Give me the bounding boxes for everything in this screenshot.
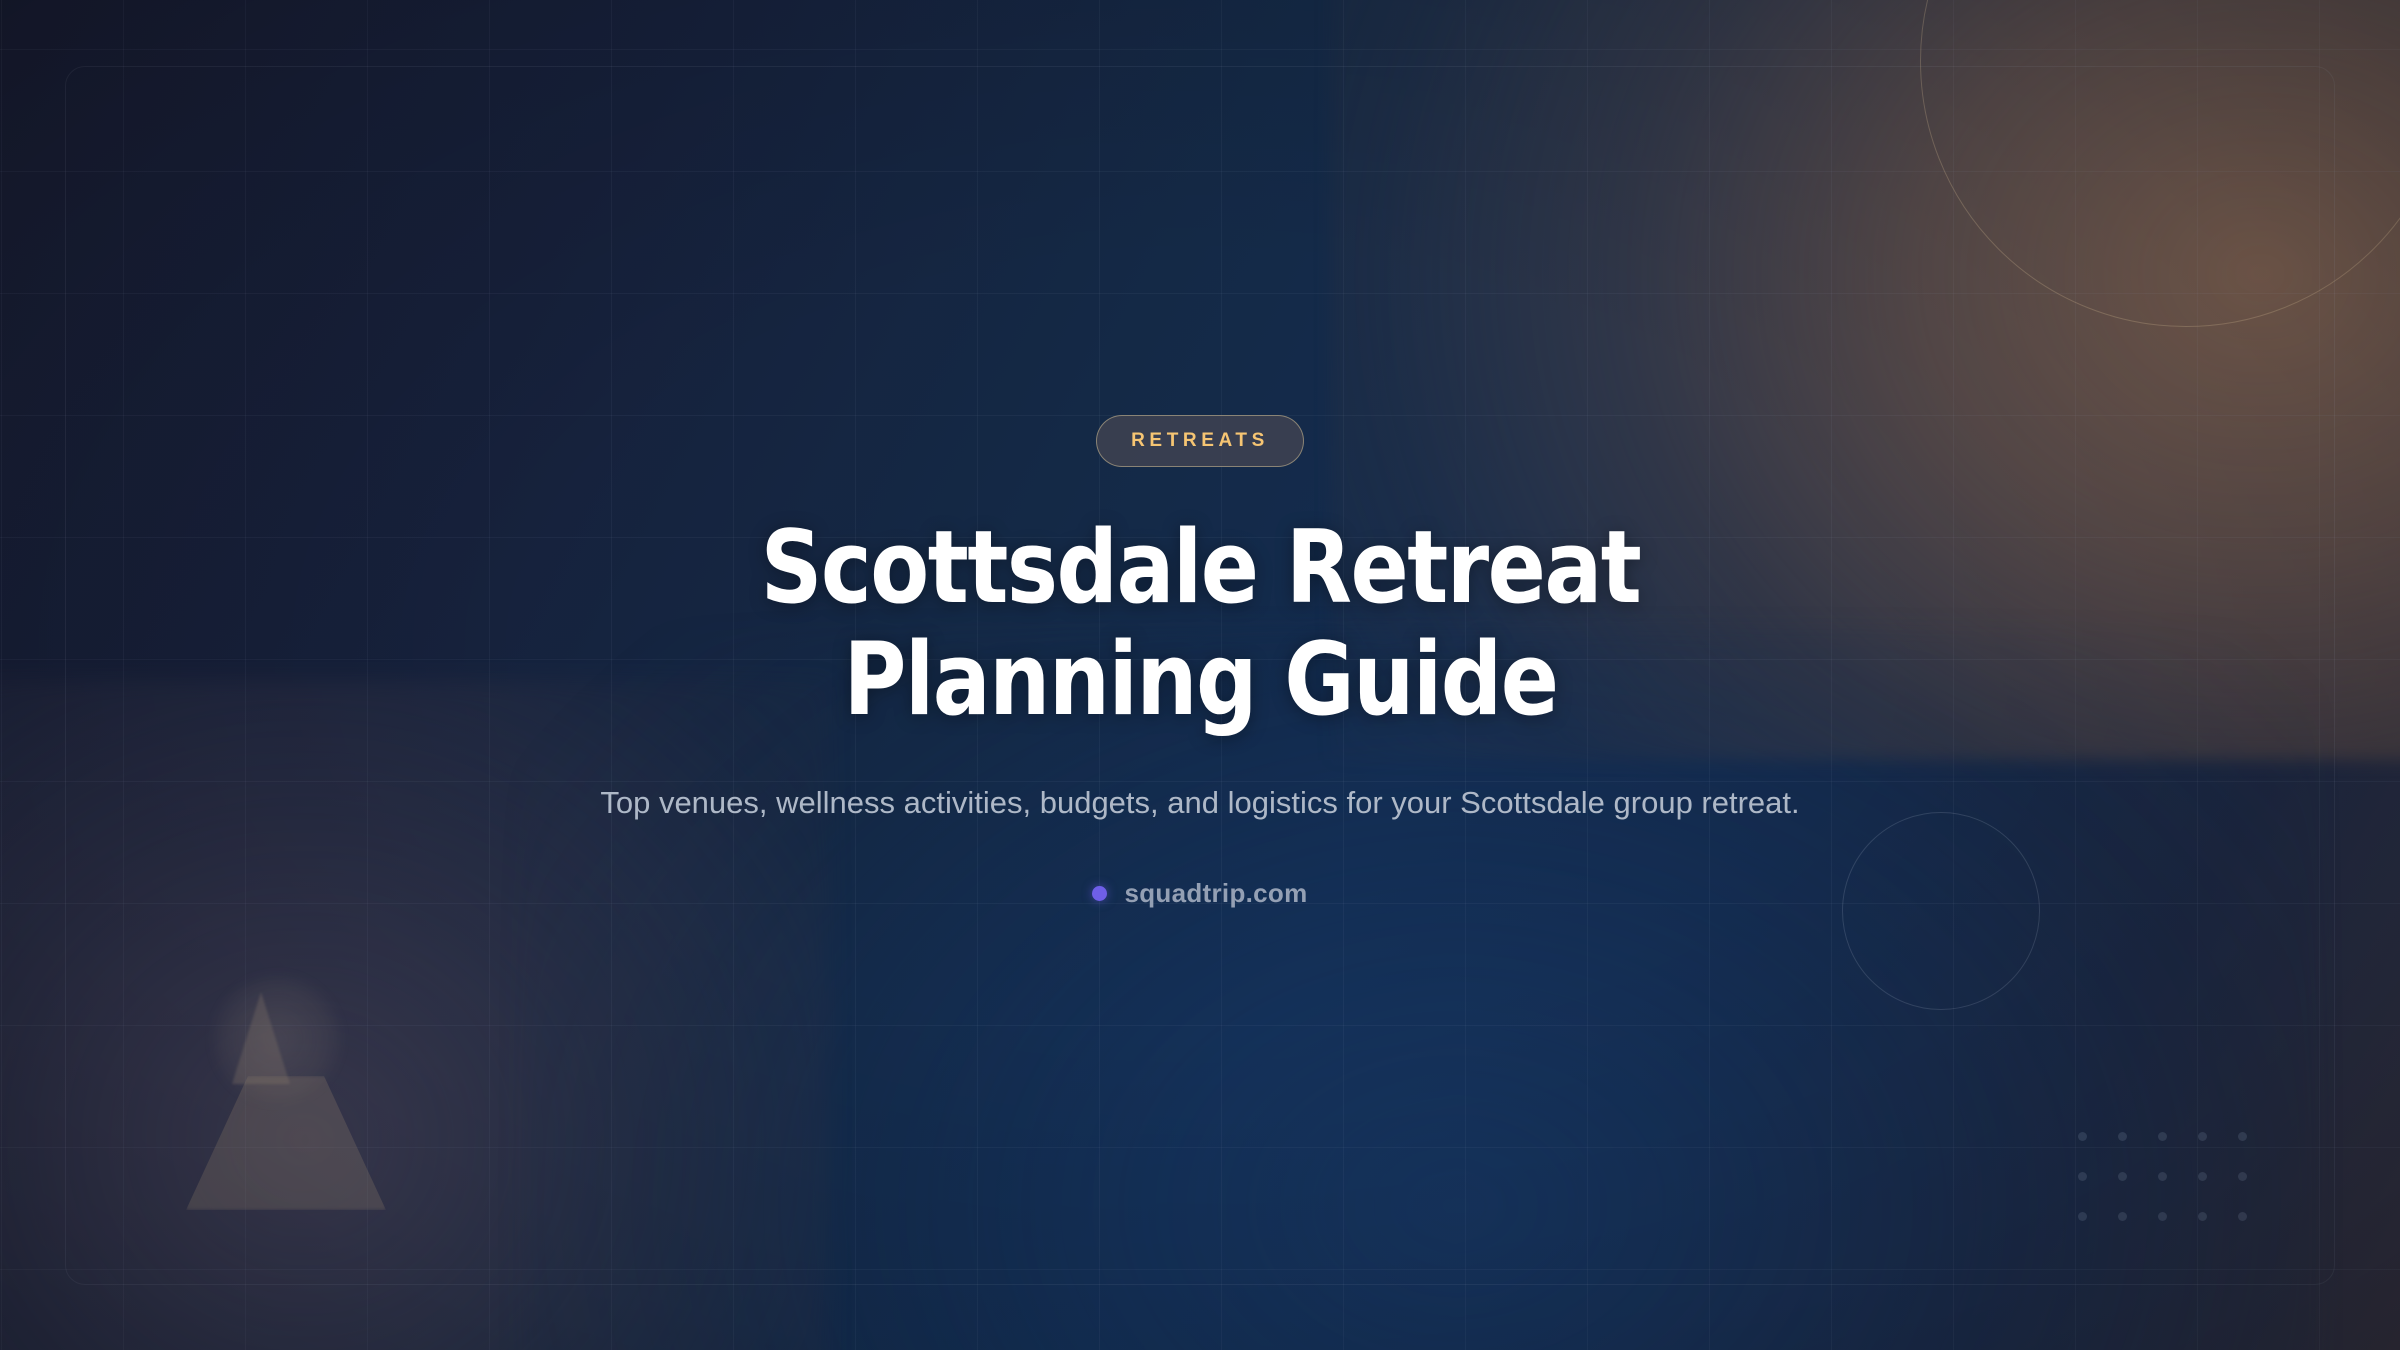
brand-name: squadtrip.com [1124,878,1307,909]
slide-content: RETREATS Scottsdale Retreat Planning Gui… [0,0,2400,1350]
presentation-slide: RETREATS Scottsdale Retreat Planning Gui… [0,0,2400,1350]
page-title: Scottsdale Retreat Planning Guide [760,511,1640,735]
page-subtitle: Top venues, wellness activities, budgets… [600,779,1799,826]
page-title-line-1: Scottsdale Retreat [760,508,1640,626]
page-title-line-2: Planning Guide [843,620,1557,738]
brand-footer: squadtrip.com [1092,878,1307,909]
brand-dot-icon [1092,886,1107,901]
category-badge: RETREATS [1096,415,1304,467]
